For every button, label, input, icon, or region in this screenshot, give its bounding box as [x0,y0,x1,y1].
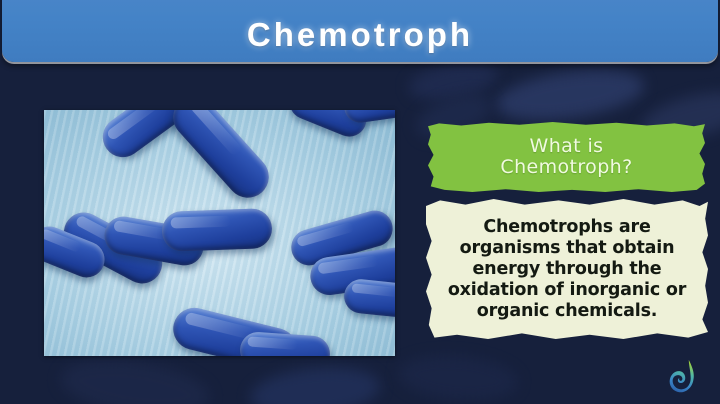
title-banner: Chemotroph [2,0,718,62]
question-card: What is Chemotroph? [428,122,705,192]
answer-card-text: Chemotrophs are organisms that obtain en… [432,217,702,322]
bacterium-rod [161,208,272,252]
slide-canvas: Chemotroph What is Chemotroph? Chemotrop… [0,0,720,404]
page-title: Chemotroph [247,16,473,54]
bacteria-photo [44,110,395,356]
question-card-text: What is Chemotroph? [500,136,632,179]
answer-card: Chemotrophs are organisms that obtain en… [426,199,708,339]
question-line-1: What is [530,135,604,157]
brand-logo[interactable] [666,358,704,396]
spiral-leaf-icon [666,358,704,396]
question-line-2: Chemotroph? [500,157,632,178]
